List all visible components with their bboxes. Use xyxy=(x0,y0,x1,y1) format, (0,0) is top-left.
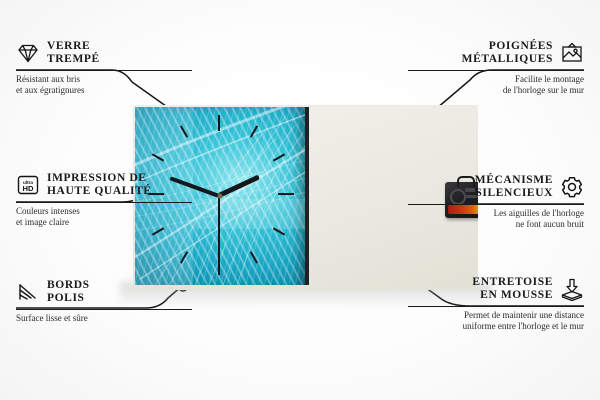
feature-title-line1: MÉCANISME xyxy=(404,174,553,187)
feature-title-line1: POIGNÉES xyxy=(404,40,553,53)
feature-title-line1: VERRE xyxy=(47,40,100,53)
feature-bords-polis: BORDS POLIS Surface lisse et sûre xyxy=(16,279,196,324)
feature-entretoise-en-mousse: ENTRETOISE EN MOUSSE Permet de maintenir… xyxy=(404,276,584,332)
feature-rule xyxy=(16,202,192,203)
feature-title-line2: MÉTALLIQUES xyxy=(404,53,553,66)
clock-tick xyxy=(218,115,220,131)
feature-mecanisme-silencieux: MÉCANISME SILENCIEUX Les aiguilles de l'… xyxy=(404,174,584,230)
clock-second-hand xyxy=(218,196,220,262)
feature-title-line2: EN MOUSSE xyxy=(404,289,553,302)
feature-title-line2: POLIS xyxy=(47,292,90,305)
feature-subtitle-line2: de l'horloge sur le mur xyxy=(404,85,584,96)
feature-subtitle-line1: Les aiguilles de l'horloge xyxy=(404,208,584,219)
clock-center-hub xyxy=(218,194,223,199)
feature-title-line1: BORDS xyxy=(47,279,90,292)
feature-poignees-metalliques: POIGNÉES MÉTALLIQUES Facilite le montage… xyxy=(404,40,584,96)
feature-subtitle-line2: et aux égratignures xyxy=(16,85,196,96)
feature-subtitle-line2: et image claire xyxy=(16,217,196,228)
clock-tick xyxy=(278,193,294,195)
feature-title-line2: TREMPÉ xyxy=(47,53,100,66)
feature-title-line2: SILENCIEUX xyxy=(404,187,553,200)
framed-picture-icon xyxy=(560,41,584,65)
polished-edges-icon xyxy=(16,280,40,304)
feature-rule xyxy=(408,204,584,205)
gear-icon xyxy=(560,175,584,199)
feature-rule xyxy=(16,70,192,71)
feature-impression-haute-qualite: ultra HD IMPRESSION DE HAUTE QUALITÉ Cou… xyxy=(16,172,196,228)
feature-subtitle-line1: Surface lisse et sûre xyxy=(16,313,196,324)
feature-subtitle-line1: Permet de maintenir une distance xyxy=(404,310,584,321)
feature-subtitle-line1: Facilite le montage xyxy=(404,74,584,85)
feature-subtitle-line1: Couleurs intenses xyxy=(16,206,196,217)
ultra-hd-badge-icon: ultra HD xyxy=(16,173,40,197)
diamond-icon xyxy=(16,41,40,65)
foam-spacer-icon xyxy=(560,277,584,301)
feature-rule xyxy=(408,306,584,307)
feature-title-line1: IMPRESSION DE xyxy=(47,172,152,185)
feature-verre-trempe: VERRE TREMPÉ Résistant aux bris et aux é… xyxy=(16,40,196,96)
infographic-canvas: VERRE TREMPÉ Résistant aux bris et aux é… xyxy=(0,0,600,400)
feature-subtitle-line1: Résistant aux bris xyxy=(16,74,196,85)
feature-rule xyxy=(16,309,192,310)
feature-title-line2: HAUTE QUALITÉ xyxy=(47,185,152,198)
feature-rule xyxy=(408,70,584,71)
feature-title-line1: ENTRETOISE xyxy=(404,276,553,289)
feature-subtitle-line2: uniforme entre l'horloge et le mur xyxy=(404,321,584,332)
feature-subtitle-line2: ne font aucun bruit xyxy=(404,219,584,230)
svg-text:HD: HD xyxy=(23,184,34,193)
